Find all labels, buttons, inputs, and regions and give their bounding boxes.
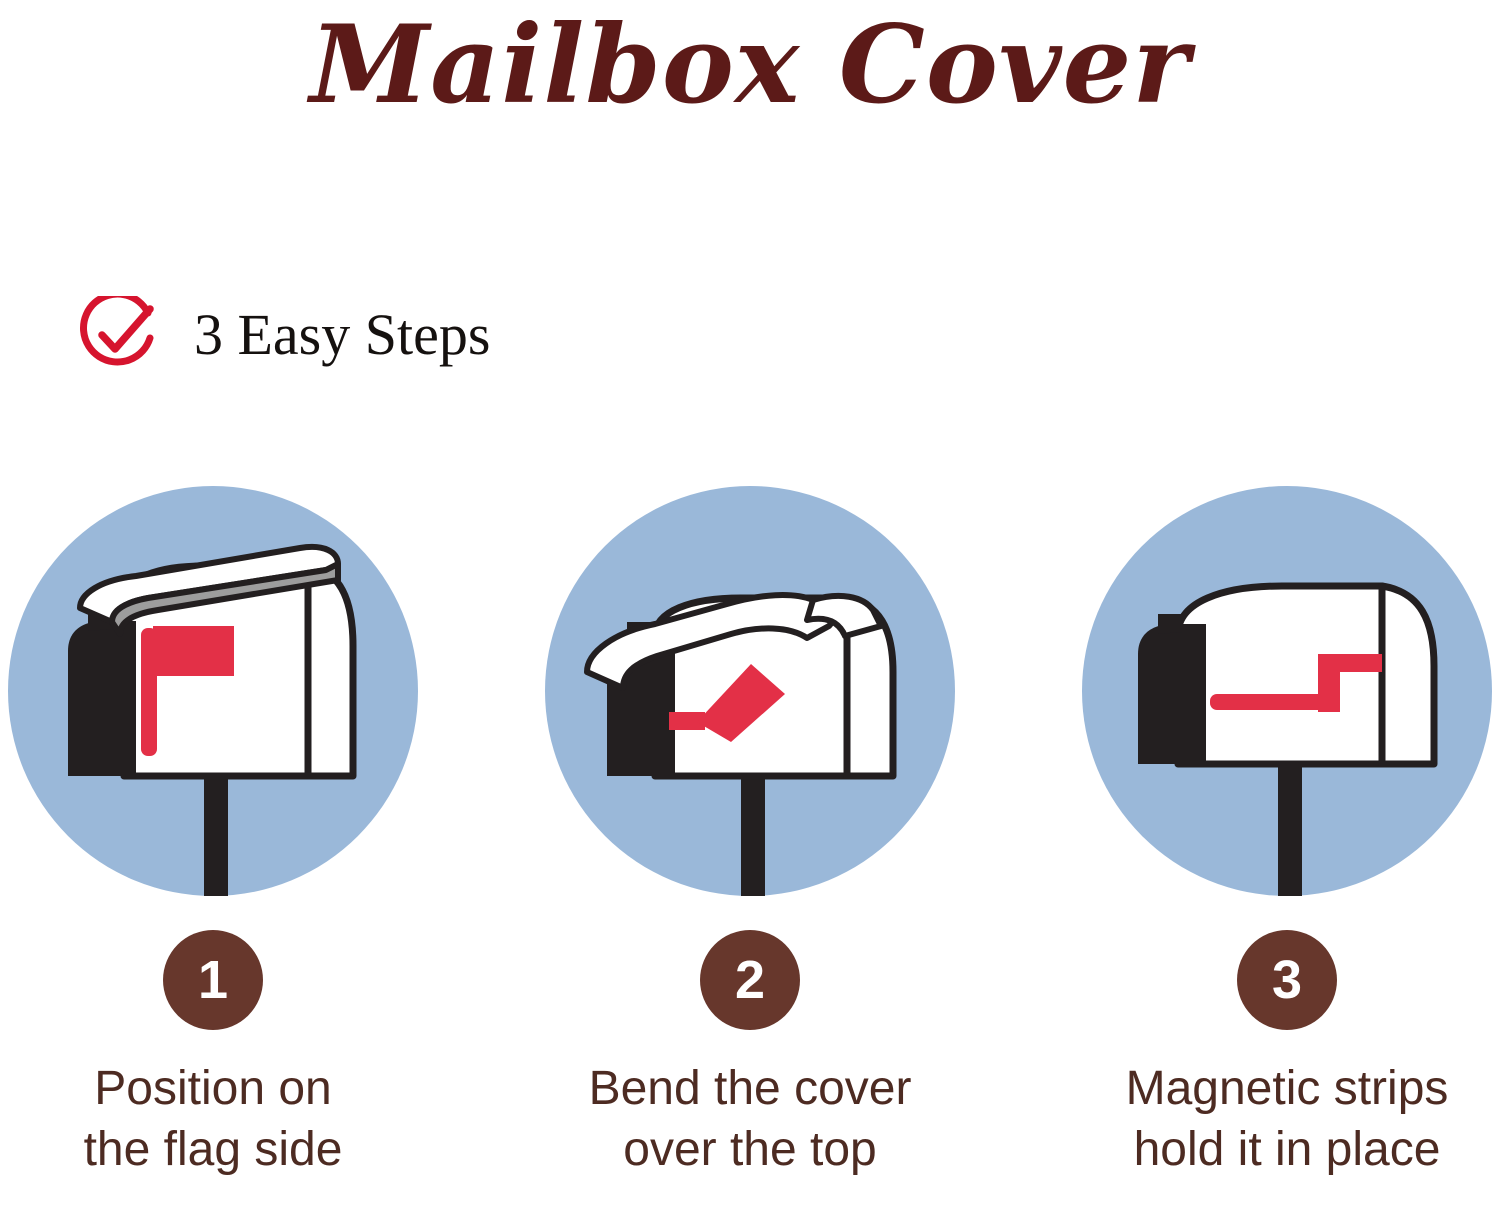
step-2: 2 Bend the cover over the top <box>545 486 955 1226</box>
step-number-badge: 1 <box>163 930 263 1030</box>
mailbox-cover-magnet-illustration <box>1082 486 1492 896</box>
easy-steps-header: 3 Easy Steps <box>78 296 490 374</box>
steps-row: 1 Position on the flag side <box>0 486 1500 1226</box>
mailbox-cover-position-illustration <box>8 486 418 896</box>
step-3: 3 Magnetic strips hold it in place <box>1082 486 1492 1226</box>
step-number-badge: 3 <box>1237 930 1337 1030</box>
check-circle-icon <box>78 296 156 374</box>
mailbox-cover-bend-illustration <box>545 486 955 896</box>
step-caption: Magnetic strips hold it in place <box>1126 1058 1449 1181</box>
easy-steps-label: 3 Easy Steps <box>194 306 490 364</box>
page-title: Mailbox Cover <box>0 2 1500 128</box>
step-number-badge: 2 <box>700 930 800 1030</box>
step-1: 1 Position on the flag side <box>8 486 418 1226</box>
step-caption: Position on the flag side <box>84 1058 343 1181</box>
step-caption: Bend the cover over the top <box>589 1058 912 1181</box>
